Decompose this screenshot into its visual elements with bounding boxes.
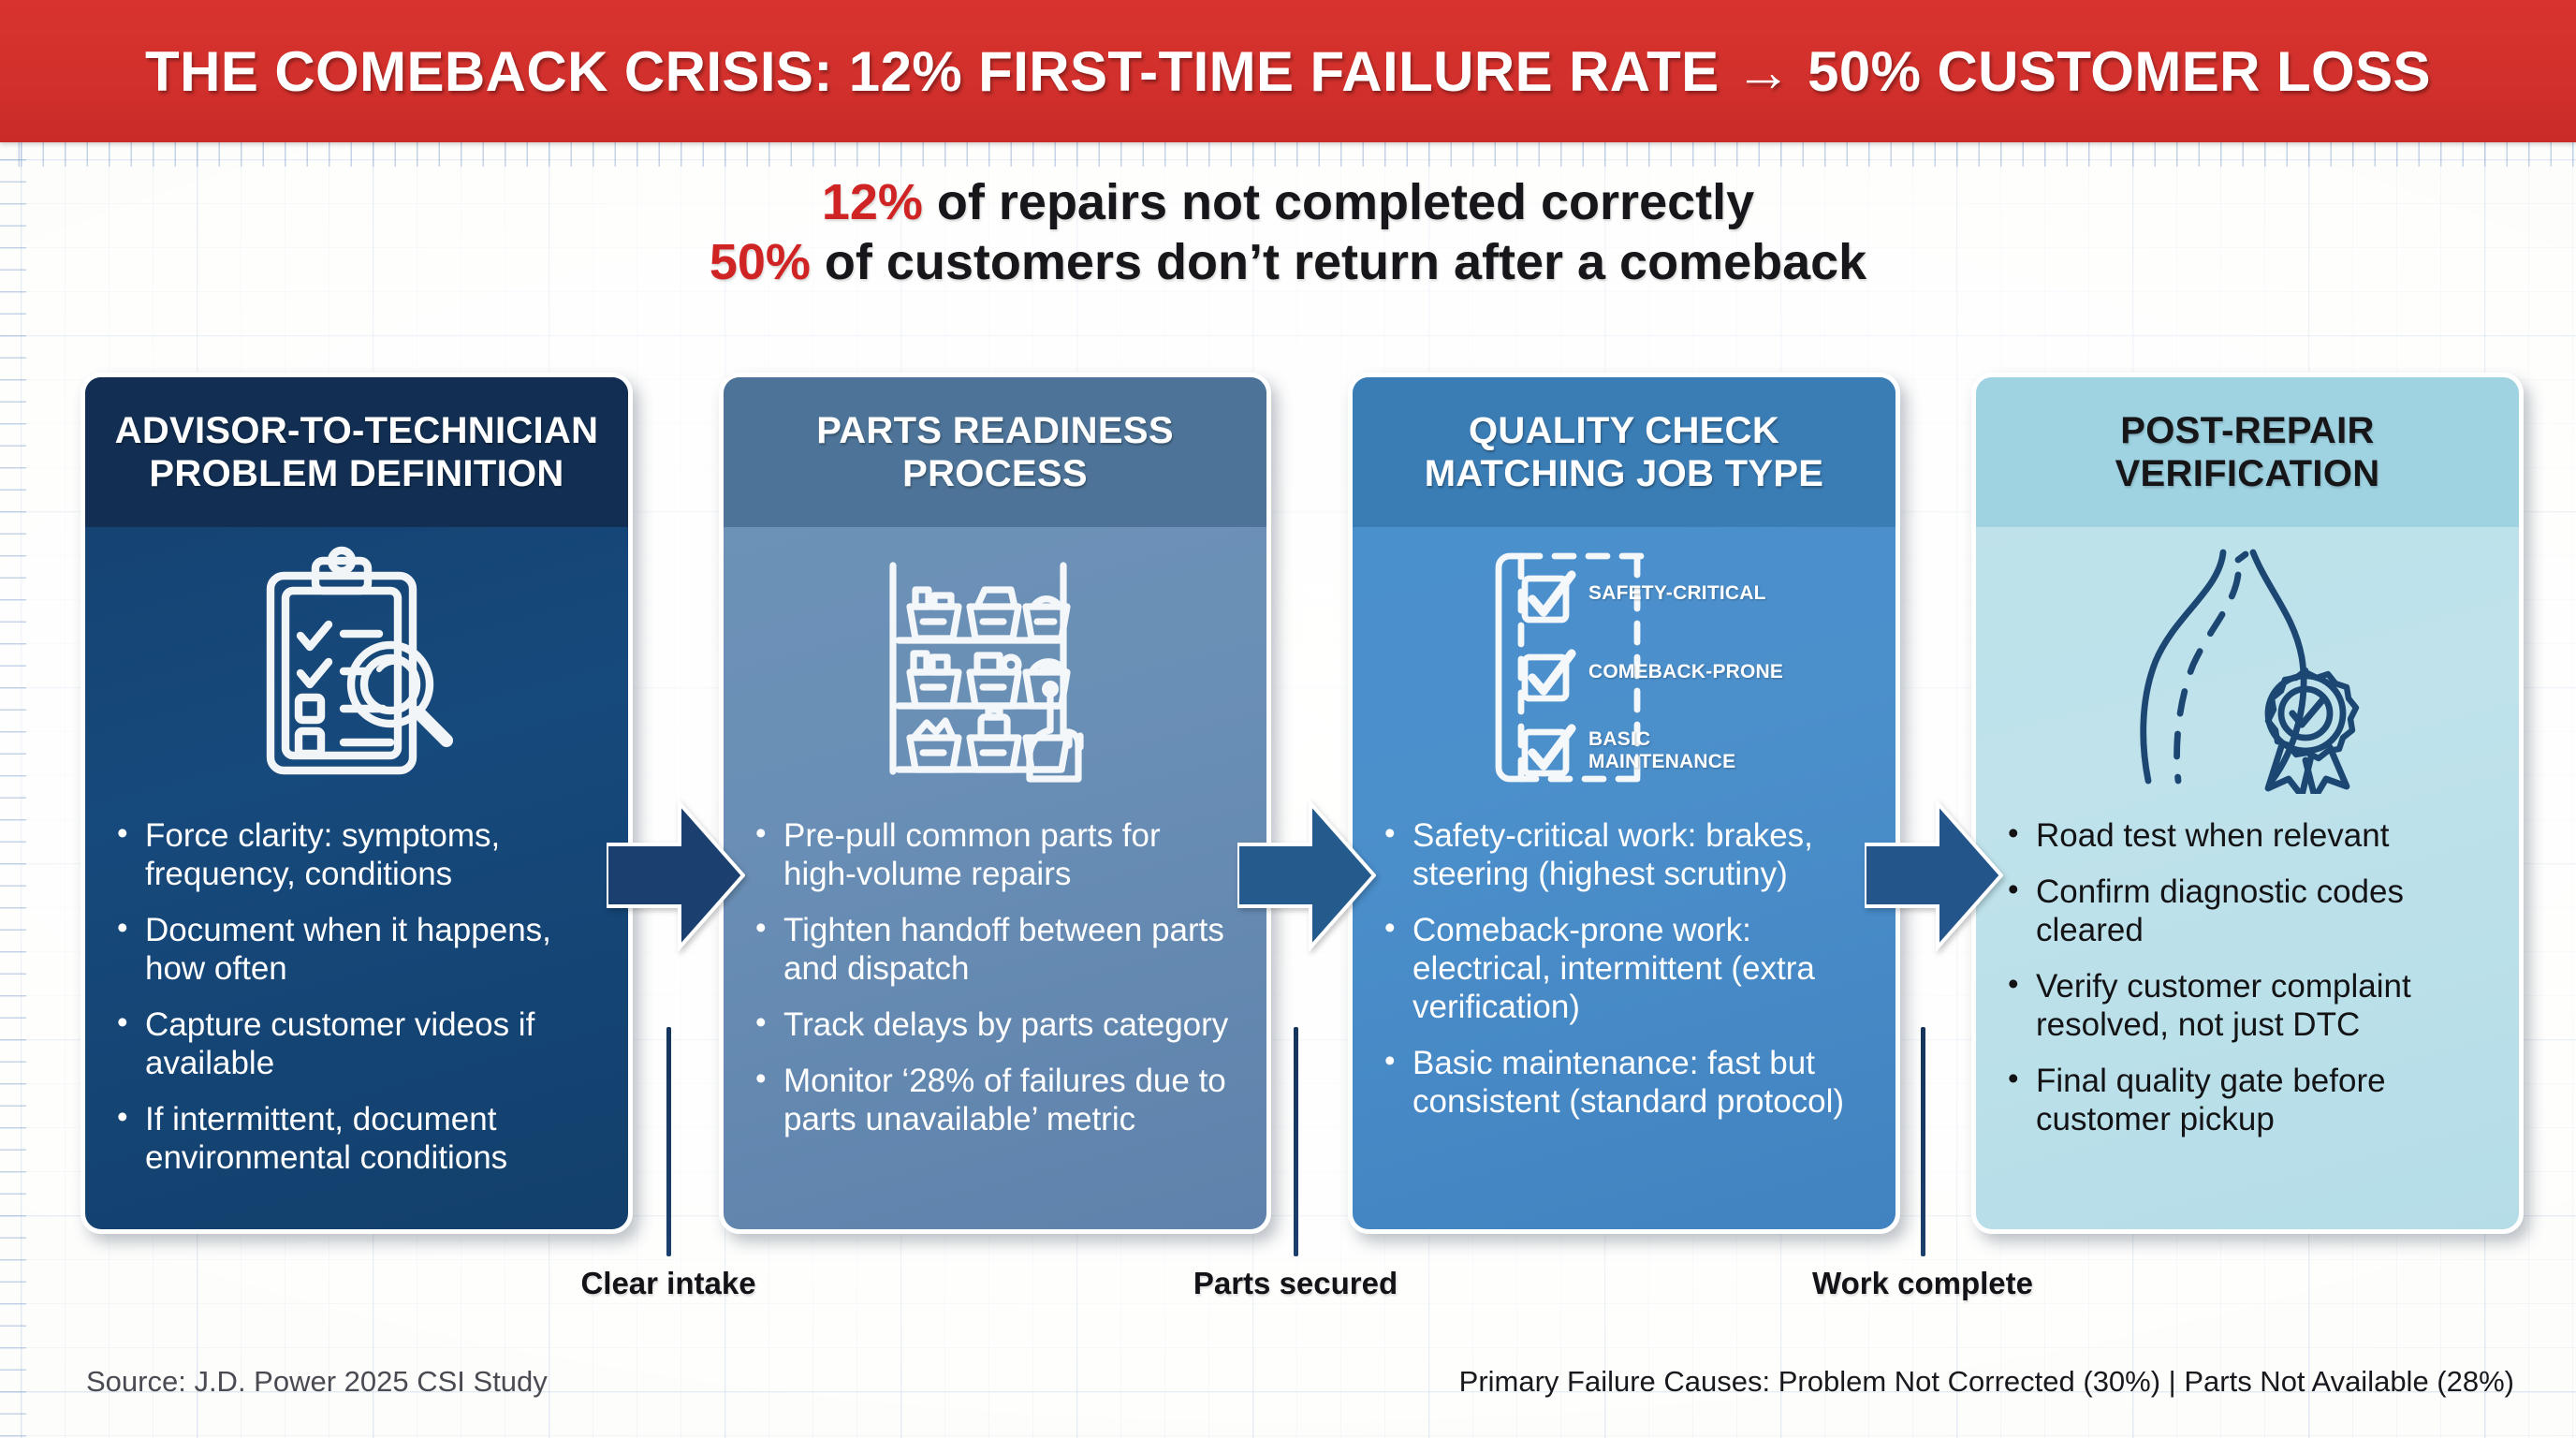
process-card-quality-check[interactable]: QUALITY CHECK MATCHING JOB TYPE SAFETY-C… [1348,373,1900,1234]
subtitle-block: 12% of repairs not completed correctly 5… [0,173,2576,292]
process-card-post-repair-verification[interactable]: POST-REPAIR VERIFICATION Road test when … [1971,373,2524,1234]
arrow-right-icon [607,796,745,955]
card-title: ADVISOR-TO-TECHNICIAN PROBLEM DEFINITION [106,410,607,495]
arrow-right-icon [1865,796,2003,955]
subtitle-stat-50: 50% [710,234,811,290]
list-item: Road test when relevant [2004,817,2487,856]
subtitle-text-2: of customers don’t return after a comeba… [811,234,1866,290]
clipboard-checklist-magnifier-icon [85,527,628,808]
card-title: PARTS READINESS PROCESS [744,410,1246,495]
icon-label-comeback-prone: COMEBACK-PRONE [1588,661,1783,683]
subtitle-stat-12: 12% [822,174,923,230]
parts-shelf-hand-icon [724,527,1266,808]
list-item: Comeback-prone work: electrical, intermi… [1381,912,1864,1027]
ruler-ticks-top [0,142,2576,174]
icon-label-basic-maintenance: BASIC MAINTENANCE [1588,728,1710,772]
road-quality-badge-icon [1976,527,2519,808]
subtitle-text-1: of repairs not completed correctly [923,174,1754,230]
bullet-list: Force clarity: symptoms, frequency, cond… [113,817,596,1178]
list-item: Tighten handoff between parts and dispat… [752,912,1235,989]
list-item: Confirm diagnostic codes cleared [2004,873,2487,950]
card-header: QUALITY CHECK MATCHING JOB TYPE [1353,377,1895,527]
subtitle-line-1: 12% of repairs not completed correctly [0,173,2576,233]
card-body: Road test when relevant Confirm diagnost… [1976,808,2519,1229]
arrow-right-icon [1237,796,1376,955]
icon-label-safety-critical: SAFETY-CRITICAL [1588,582,1766,605]
card-body: Pre-pull common parts for high-volume re… [724,808,1266,1229]
list-item: Basic maintenance: fast but consistent (… [1381,1045,1864,1122]
bullet-list: Pre-pull common parts for high-volume re… [752,817,1235,1139]
list-item: Capture customer videos if available [113,1006,596,1083]
milestone-label-parts-secured: Parts secured [1193,1266,1398,1301]
footer-source: Source: J.D. Power 2025 CSI Study [86,1365,548,1399]
card-header: POST-REPAIR VERIFICATION [1976,377,2519,527]
process-card-parts-readiness[interactable]: PARTS READINESS PROCESS [719,373,1271,1234]
milestone-label-clear-intake: Clear intake [580,1266,755,1301]
checklist-job-types-icon: SAFETY-CRITICAL COMEBACK-PRONE BASIC MAI… [1353,527,1895,808]
list-item: Document when it happens, how often [113,912,596,989]
list-item: Force clarity: symptoms, frequency, cond… [113,817,596,894]
list-item: Safety-critical work: brakes, steering (… [1381,817,1864,894]
card-header: PARTS READINESS PROCESS [724,377,1266,527]
card-title: POST-REPAIR VERIFICATION [1997,410,2498,495]
card-body: Force clarity: symptoms, frequency, cond… [85,808,628,1229]
process-card-advisor-to-technician[interactable]: ADVISOR-TO-TECHNICIAN PROBLEM DEFINITION [80,373,633,1234]
list-item: Pre-pull common parts for high-volume re… [752,817,1235,894]
footer-primary-failure-causes: Primary Failure Causes: Problem Not Corr… [1459,1365,2514,1399]
list-item: Track delays by parts category [752,1006,1235,1045]
list-item: Final quality gate before customer picku… [2004,1063,2487,1139]
list-item: Monitor ‘28% of failures due to parts un… [752,1063,1235,1139]
card-title: QUALITY CHECK MATCHING JOB TYPE [1373,410,1875,495]
header-banner: THE COMEBACK CRISIS: 12% FIRST-TIME FAIL… [0,0,2576,142]
banner-title: THE COMEBACK CRISIS: 12% FIRST-TIME FAIL… [145,39,2431,104]
card-body: Safety-critical work: brakes, steering (… [1353,808,1895,1229]
milestone-label-work-complete: Work complete [1812,1266,2033,1301]
bullet-list: Safety-critical work: brakes, steering (… [1381,817,1864,1122]
card-header: ADVISOR-TO-TECHNICIAN PROBLEM DEFINITION [85,377,628,527]
list-item: If intermittent, document environmental … [113,1101,596,1178]
subtitle-line-2: 50% of customers don’t return after a co… [0,233,2576,293]
bullet-list: Road test when relevant Confirm diagnost… [2004,817,2487,1139]
list-item: Verify customer complaint resolved, not … [2004,968,2487,1045]
